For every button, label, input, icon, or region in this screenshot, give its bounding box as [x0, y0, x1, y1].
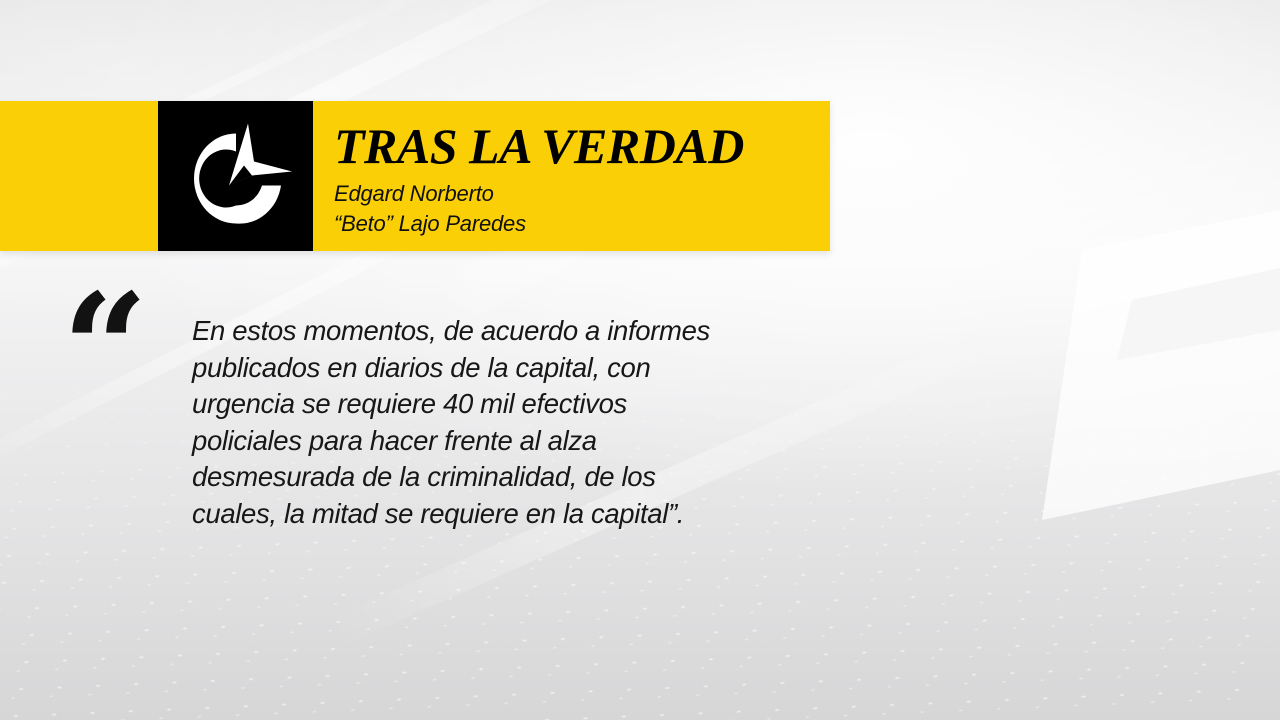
- arrow-circle-logo-icon: [174, 116, 298, 237]
- subject-portrait-photo: [612, 0, 1280, 720]
- broadcast-quote-card: TRAS LA VERDAD Edgard Norberto “Beto” La…: [0, 0, 1280, 720]
- program-logo-box: [158, 101, 313, 251]
- open-quote-icon: “: [62, 303, 142, 396]
